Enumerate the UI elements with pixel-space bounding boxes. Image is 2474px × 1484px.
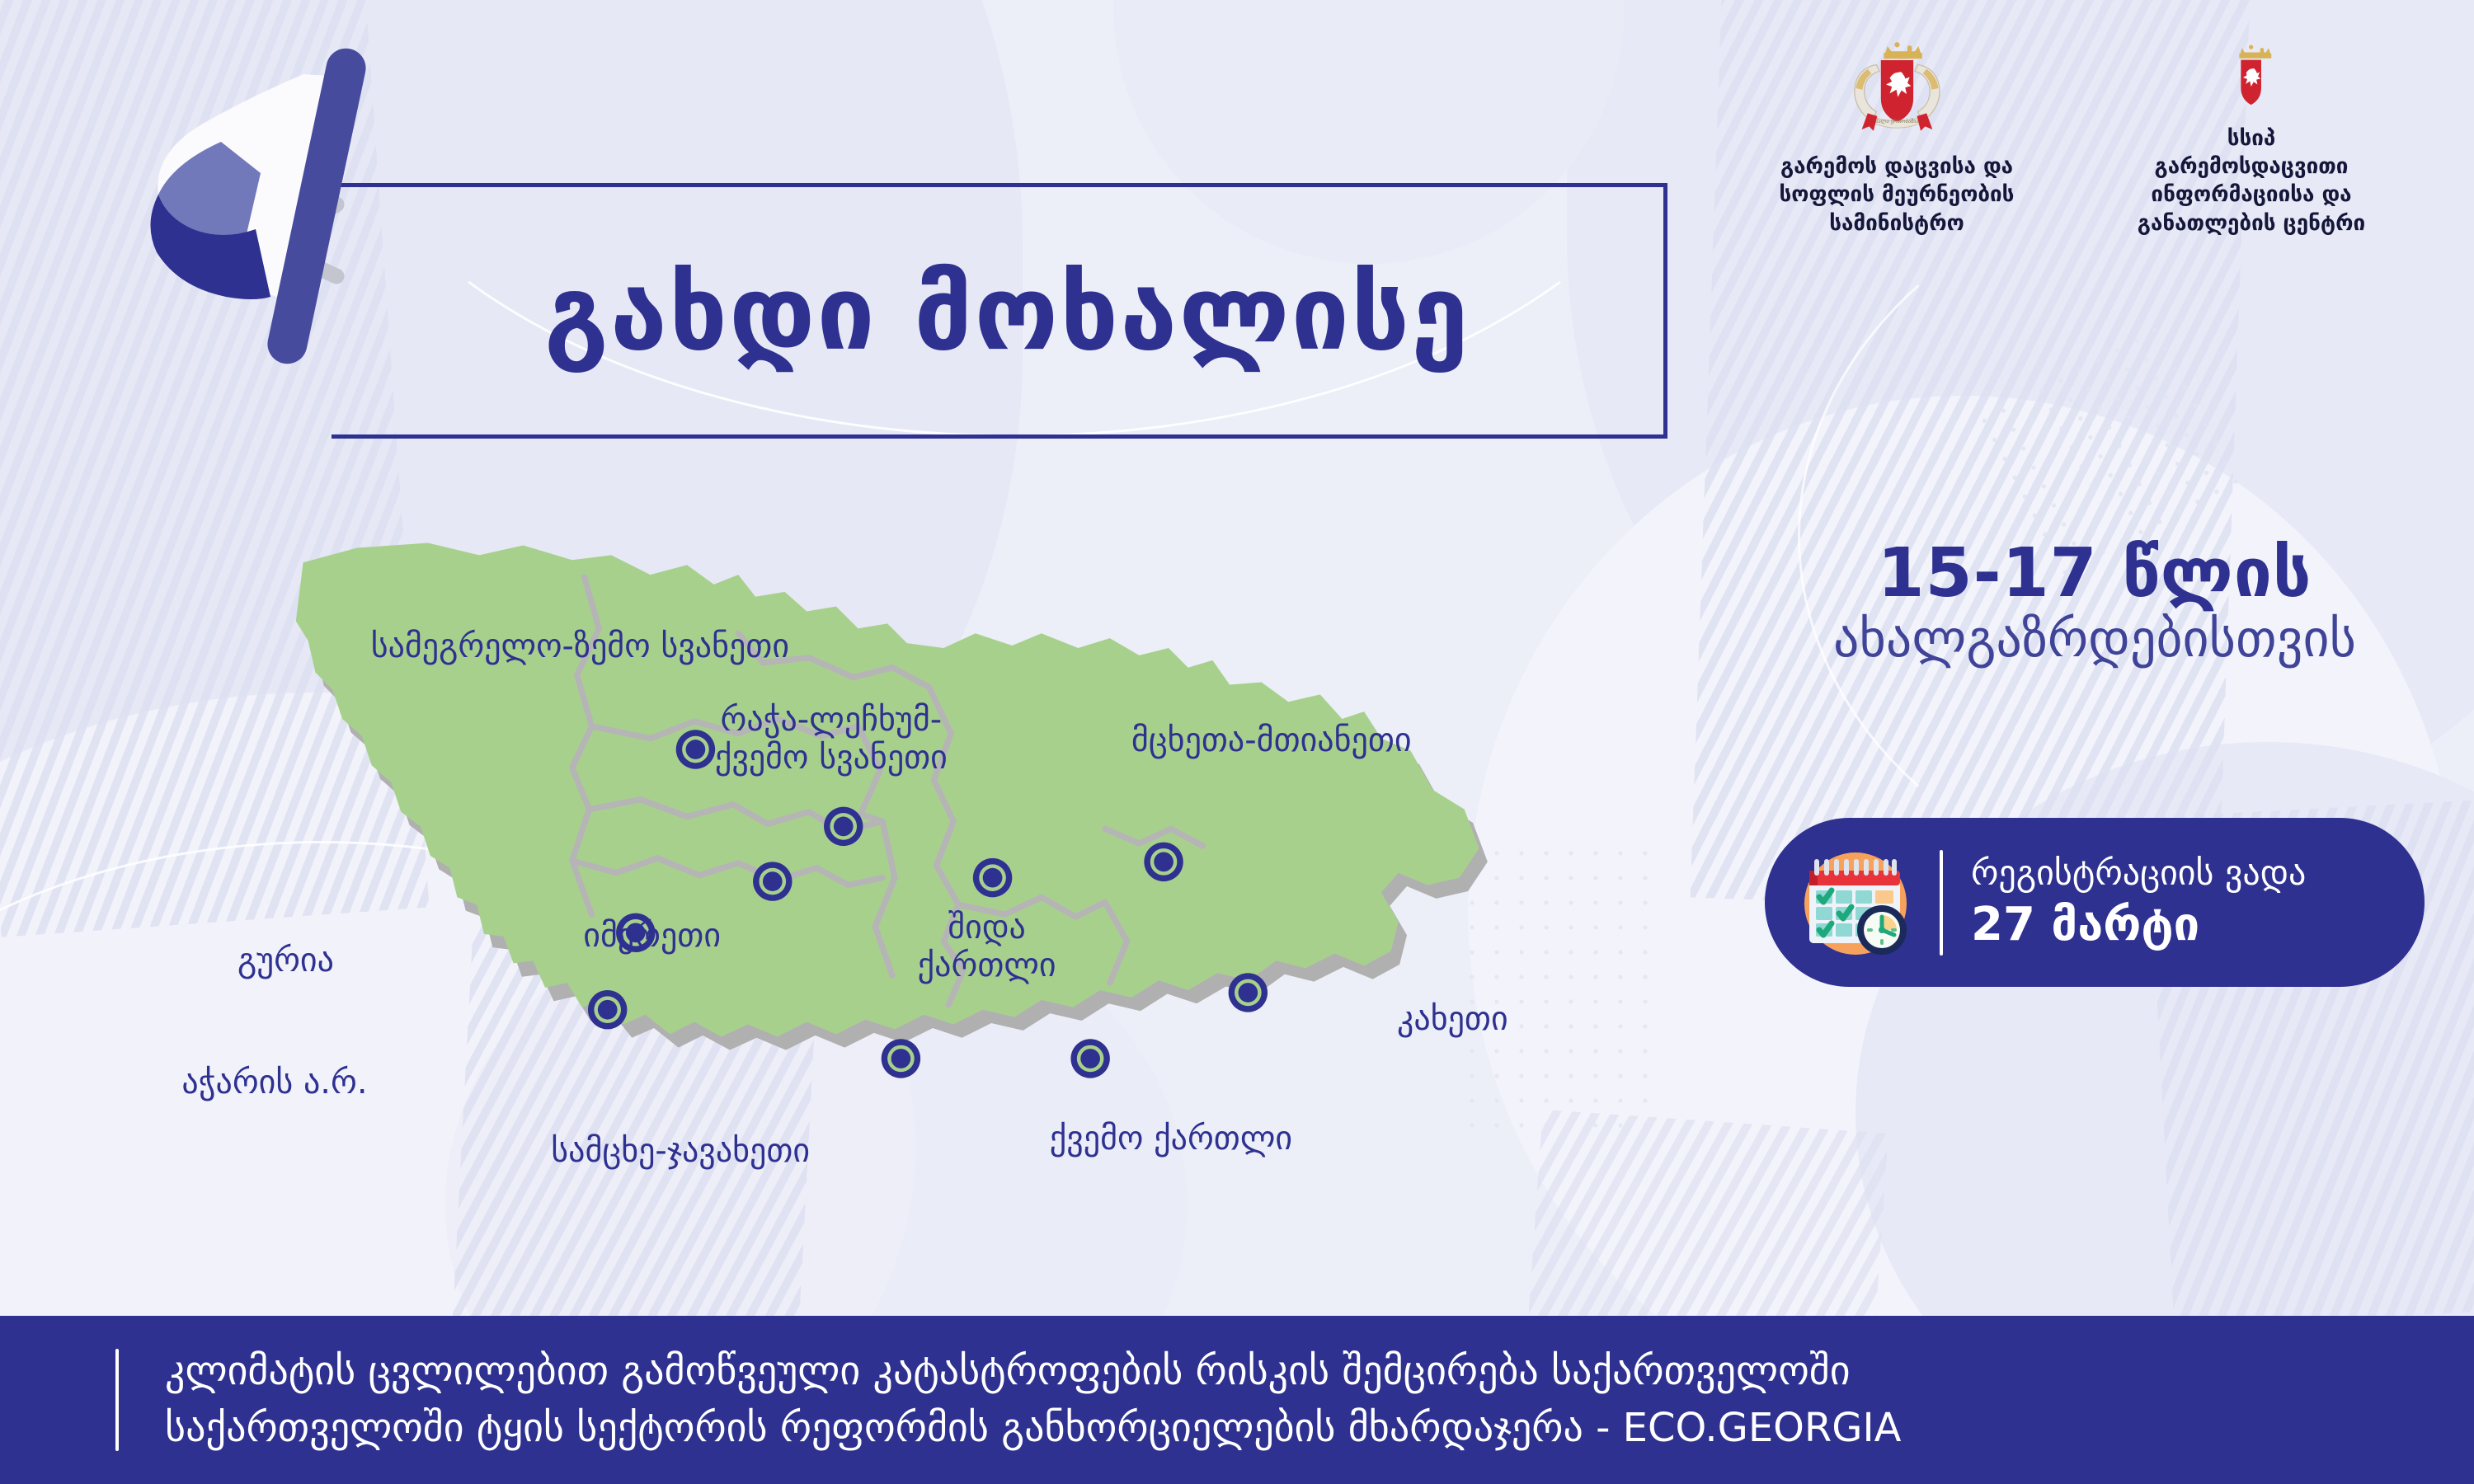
map-region-label: გურია <box>238 942 334 979</box>
infographic-root: გახდი მოხალისე ძალა <box>0 0 2474 1484</box>
calendar-clock-icon <box>1796 841 1920 965</box>
map-region-label: შიდაქართლი <box>918 909 1056 985</box>
banner-accent-rule <box>115 1349 119 1451</box>
logo-group: ძალა ერთობაშია გარემოს დაცვისა და სოფლის… <box>1732 40 2416 237</box>
logo-center-caption: სსიპ გარემოსდაცვითი ინფორმაციისა და განა… <box>2128 124 2375 237</box>
project-banner: კლიმატის ცვლილებით გამოწვეული კატასტროფე… <box>0 1316 2474 1484</box>
badge-divider <box>1940 850 1943 956</box>
map-region-label: ქვემო ქართლი <box>1050 1120 1292 1158</box>
map-marker[interactable] <box>1070 1039 1109 1078</box>
georgia-region-map: სამეგრელო-ზემო სვანეთირაჭა-ლეჩხუმ-ქვემო … <box>58 511 1732 1195</box>
logo-center: სსიპ გარემოსდაცვითი ინფორმაციისა და განა… <box>2128 40 2375 237</box>
map-region-label: აჭარის ა.რ. <box>181 1064 367 1101</box>
map-marker[interactable] <box>824 807 863 846</box>
georgia-shield-crown-icon <box>2222 40 2280 115</box>
page-title: გახდი მოხალისე <box>544 223 1699 404</box>
map-marker[interactable] <box>753 862 792 900</box>
map-marker[interactable] <box>973 858 1012 897</box>
banner-line-1: კლიმატის ცვლილებით გამოწვეული კატასტროფე… <box>165 1349 1901 1394</box>
map-region-label: კახეთი <box>1397 1000 1508 1038</box>
map-marker[interactable] <box>882 1039 920 1078</box>
map-marker[interactable] <box>676 730 715 768</box>
deadline-date: 27 მარტი <box>1971 897 2306 952</box>
registration-deadline-badge: რეგისტრაციის ვადა 27 მარტი <box>1765 818 2425 987</box>
target-audience-text: ახალგაზრდებისთვის <box>1732 608 2458 669</box>
map-region-label: სამეგრელო-ზემო სვანეთი <box>371 627 789 665</box>
deadline-label: რეგისტრაციის ვადა <box>1971 852 2306 894</box>
map-marker[interactable] <box>1144 843 1183 881</box>
logo-ministry-caption: გარემოს დაცვისა და სოფლის მეურნეობის სამ… <box>1732 153 2062 237</box>
map-region-label: მცხეთა-მთიანეთი <box>1131 721 1412 759</box>
megaphone-icon <box>124 25 470 379</box>
map-region-label: რაჭა-ლეჩხუმ-ქვემო სვანეთი <box>715 701 948 777</box>
map-marker[interactable] <box>1229 973 1268 1012</box>
map-marker[interactable] <box>588 990 627 1029</box>
age-range-text: 15-17 წლის <box>1757 534 2433 613</box>
georgia-coat-of-arms-full-icon: ძალა ერთობაშია <box>1838 40 1956 143</box>
logo-ministry: ძალა ერთობაშია გარემოს დაცვისა და სოფლის… <box>1732 40 2062 237</box>
banner-line-2: საქართველოში ტყის სექტორის რეფორმის განხ… <box>165 1406 1901 1451</box>
svg-text:ძალა ერთობაშია: ძალა ერთობაშია <box>1875 117 1918 124</box>
map-region-label: იმერეთი <box>583 917 721 955</box>
map-region-label: სამცხე-ჯავახეთი <box>551 1132 810 1170</box>
